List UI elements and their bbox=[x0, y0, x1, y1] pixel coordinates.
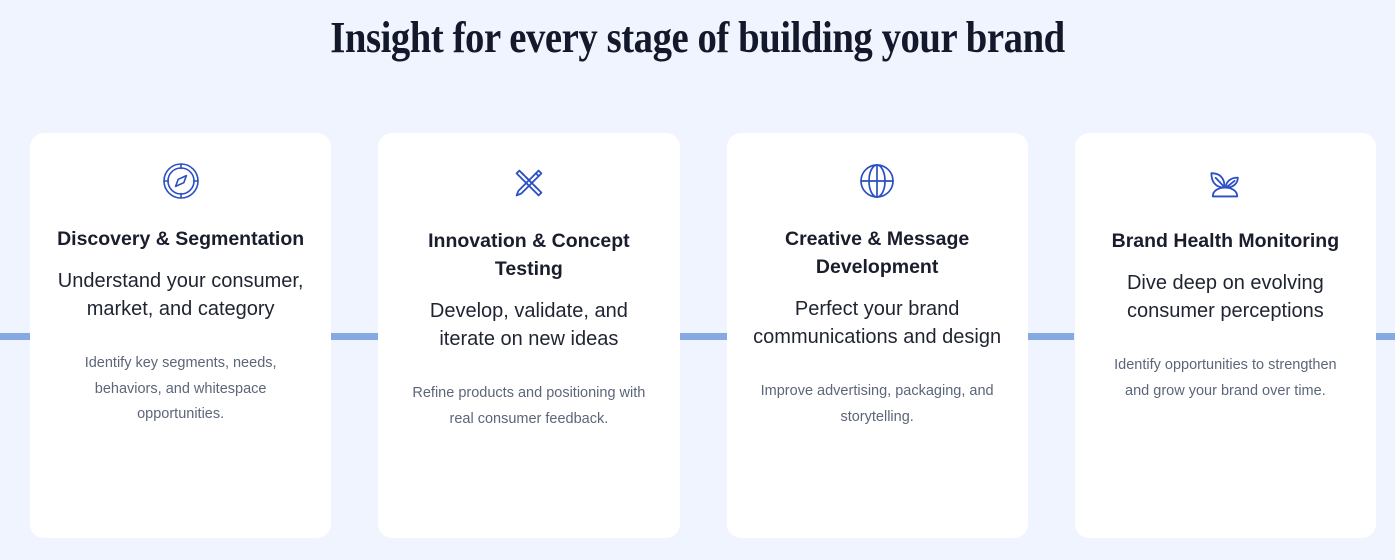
stage-card-description: Identify key segments, needs, behaviors,… bbox=[63, 351, 299, 428]
stage-card-title: Discovery & Segmentation bbox=[57, 225, 304, 253]
stage-card-innovation-concept-testing[interactable]: Innovation & Concept Testing Develop, va… bbox=[378, 133, 679, 538]
stage-card-brand-health-monitoring[interactable]: Brand Health Monitoring Dive deep on evo… bbox=[1075, 133, 1376, 538]
stage-card-description: Identify opportunities to strengthen and… bbox=[1107, 353, 1343, 404]
globe-icon bbox=[855, 159, 899, 203]
connector-rail-right-edge bbox=[1375, 333, 1395, 340]
stage-card-creative-message-development[interactable]: Creative & Message Development Perfect y… bbox=[727, 133, 1028, 538]
page-title: Insight for every stage of building your… bbox=[84, 12, 1312, 64]
connector-rail-left-edge bbox=[0, 333, 31, 340]
stage-card-title: Brand Health Monitoring bbox=[1112, 227, 1340, 255]
sprout-icon bbox=[1203, 161, 1247, 205]
compass-icon bbox=[159, 159, 203, 203]
stage-card-subtitle: Understand your consumer, market, and ca… bbox=[56, 267, 306, 323]
stage-card-discovery-segmentation[interactable]: Discovery & Segmentation Understand your… bbox=[30, 133, 331, 538]
stage-card-description: Improve advertising, packaging, and stor… bbox=[759, 379, 995, 430]
pencil-ruler-icon bbox=[507, 161, 551, 205]
stage-card-subtitle: Perfect your brand communications and de… bbox=[752, 295, 1002, 351]
stage-card-title: Creative & Message Development bbox=[752, 225, 1002, 281]
stage-card-subtitle: Develop, validate, and iterate on new id… bbox=[404, 297, 654, 353]
stage-card-row: Discovery & Segmentation Understand your… bbox=[30, 133, 1376, 538]
stage-card-description: Refine products and positioning with rea… bbox=[411, 381, 647, 432]
stage-card-subtitle: Dive deep on evolving consumer perceptio… bbox=[1100, 269, 1350, 325]
stage-card-title: Innovation & Concept Testing bbox=[404, 227, 654, 283]
